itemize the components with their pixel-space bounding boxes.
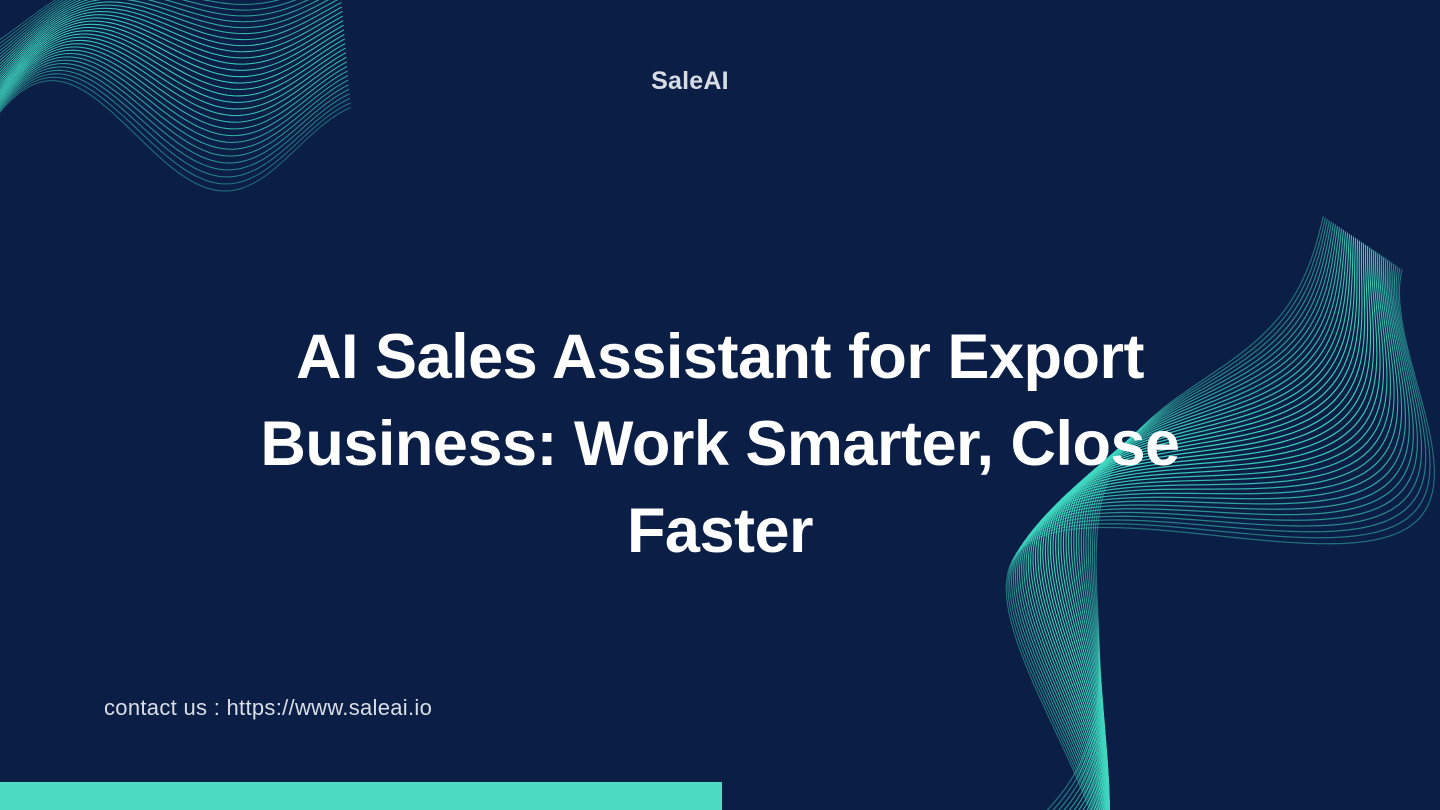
slide-canvas: SaleAI AI Sales Assistant for Export Bus…: [0, 0, 1440, 810]
wave-line: [0, 12, 356, 288]
page-title-line-1: AI Sales Assistant for Export: [190, 314, 1250, 401]
brand-logo: SaleAI: [0, 64, 1380, 98]
page-title-line-2: Business: Work Smarter, Close: [190, 401, 1250, 488]
wave-line: [0, 0, 348, 201]
accent-bar: [0, 782, 722, 810]
wave-line: [0, 9, 355, 281]
wave-line: [0, 0, 353, 255]
wave-line: [0, 7, 354, 275]
wave-line: [0, 0, 341, 121]
wave-line: [0, 0, 349, 217]
wave-line: [0, 1, 353, 262]
wave-mesh-icon-top-left: [0, 0, 361, 354]
wave-line: [0, 0, 350, 230]
wave-line: [0, 0, 352, 242]
wave-line: [0, 0, 348, 197]
wave-line: [0, 0, 352, 249]
wave-line: [0, 0, 348, 206]
wave-line: [0, 0, 349, 211]
wave-line: [0, 4, 354, 269]
wave-line: [0, 0, 350, 223]
page-title-line-3: Faster: [190, 488, 1250, 575]
wave-line: [0, 0, 340, 116]
wave-line: [0, 0, 351, 236]
page-title: AI Sales Assistant for Export Business: …: [190, 314, 1250, 575]
contact-link[interactable]: contact us : https://www.saleai.io: [104, 693, 432, 723]
wave-mesh-top-left-svg: [0, 0, 361, 354]
